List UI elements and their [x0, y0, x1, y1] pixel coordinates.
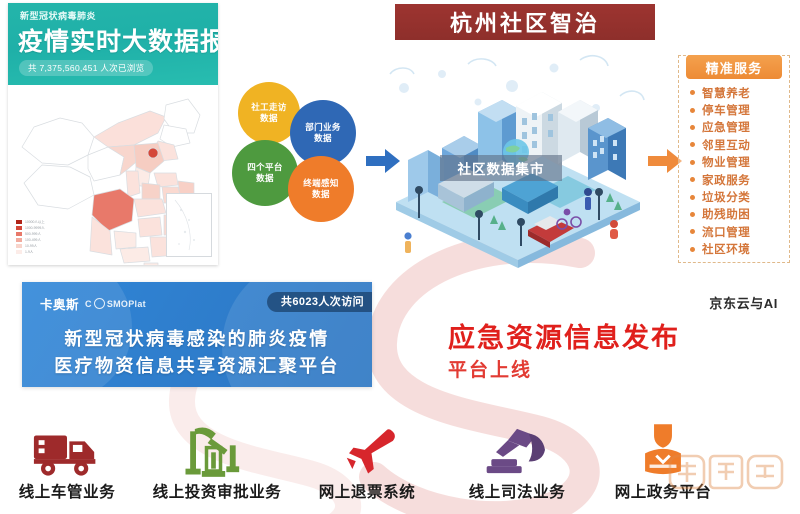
service-tile-caption: 线上投资审批业务 [142, 480, 292, 502]
legend-item: 1-9人 [16, 249, 56, 254]
service-tile-vehicle-management[interactable]: 线上车管业务 [0, 424, 142, 502]
cosmoplat-logo-cn: 卡奥斯 [40, 294, 79, 313]
service-label: 智慧养老 [702, 85, 750, 101]
service-item-community-environment[interactable]: 社区环境 [690, 241, 786, 258]
service-item-property-management[interactable]: 物业管理 [690, 154, 786, 171]
legend-label: 10000人以上 [25, 219, 45, 224]
service-tile-caption: 线上车管业务 [0, 480, 142, 502]
bullet-dot-icon [690, 108, 695, 113]
emergency-resource-announcement: 应急资源信息发布 平台上线 [448, 325, 768, 380]
service-label: 邻里互动 [702, 137, 750, 153]
epidemic-report-card[interactable]: 新型冠状病毒肺炎 疫情实时大数据报告 共 7,375,560,451 人次已浏览 [8, 3, 218, 265]
city-data-market-chip: 社区数据集市 [440, 155, 562, 181]
data-source-circles: 社工走访 数据 部门业务 数据 四个平台 数据 终端感知 数据 [232, 78, 372, 223]
oil-pump-icon-svg [183, 422, 251, 478]
cosmoplat-visit-badge: 共6023人次访问 [267, 292, 372, 312]
precise-services-header: 精准服务 [686, 55, 782, 79]
oil-pump-icon [142, 424, 292, 478]
bullet-dot-icon [690, 177, 695, 182]
circle-label-line2: 数据 [312, 189, 330, 200]
service-tile-judicial-services[interactable]: 线上司法业务 [442, 424, 592, 502]
service-item-parking-management[interactable]: 停车管理 [690, 101, 786, 118]
circle-label-line1: 四个平台 [247, 162, 283, 173]
cosmoplat-title-line1: 新型冠状病毒感染的肺炎疫情 [22, 325, 372, 351]
service-label: 社区环境 [702, 241, 750, 257]
legend-swatch [16, 250, 22, 254]
emergency-headline: 应急资源信息发布 [448, 325, 768, 352]
epidemic-visit-count: 共 7,375,560,451 人次已浏览 [19, 60, 153, 76]
legend-swatch [16, 238, 22, 242]
legend-label: 100-499人 [25, 237, 41, 242]
service-label: 垃圾分类 [702, 189, 750, 205]
circle-label-line2: 数据 [260, 113, 278, 124]
emergency-subline: 平台上线 [448, 361, 768, 380]
circle-label-line1: 部门业务 [305, 122, 341, 133]
cosmoplat-ring-icon [94, 298, 105, 309]
south-sea-islands-inset [166, 193, 212, 257]
service-item-disability-assistance[interactable]: 助残助困 [690, 206, 786, 223]
service-item-smart-elderly-care[interactable]: 智慧养老 [690, 84, 786, 101]
cosmoplat-logo: 卡奥斯 C SMOPlat [40, 294, 146, 313]
map-legend: 10000人以上 1000-9999人 500-999人 100-499人 10… [16, 219, 56, 255]
bullet-dot-icon [690, 195, 695, 200]
bullet-dot-icon [690, 160, 695, 165]
legend-label: 1000-9999人 [25, 225, 45, 230]
legend-swatch [16, 226, 22, 230]
cosmoplat-logo-en-left: C [85, 299, 92, 309]
legend-label: 10-99人 [25, 243, 37, 248]
service-label: 流口管理 [702, 224, 750, 240]
service-item-floating-population-management[interactable]: 流口管理 [690, 223, 786, 240]
legend-swatch [16, 244, 22, 248]
bullet-dot-icon [690, 125, 695, 130]
bullet-dot-icon [690, 90, 695, 95]
legend-label: 1-9人 [25, 249, 33, 254]
service-tile-caption: 网上退票系统 [292, 480, 442, 502]
service-tile-ticket-refund[interactable]: 网上退票系统 [292, 424, 442, 502]
service-label: 物业管理 [702, 154, 750, 170]
city-chip-label: 社区数据集市 [458, 158, 545, 178]
epidemic-title: 疫情实时大数据报告 [18, 22, 218, 58]
bullet-dot-icon [690, 229, 695, 234]
hangzhou-banner-title: 杭州社区智治 [450, 6, 600, 38]
gavel-icon-svg [482, 424, 552, 478]
service-item-housekeeping-service[interactable]: 家政服务 [690, 171, 786, 188]
precise-services-title: 精准服务 [706, 58, 763, 77]
circle-label-line1: 社工走访 [251, 102, 287, 113]
service-label: 助残助困 [702, 206, 750, 222]
truck-icon-svg [28, 426, 106, 478]
bullet-dot-icon [690, 212, 695, 217]
data-circle-terminal-sensing[interactable]: 终端感知 数据 [288, 156, 354, 222]
service-label: 家政服务 [702, 172, 750, 188]
legend-swatch [16, 232, 22, 236]
service-item-neighborhood-interaction[interactable]: 邻里互动 [690, 136, 786, 153]
circle-label-line2: 数据 [256, 173, 274, 184]
service-label: 停车管理 [702, 102, 750, 118]
epidemic-eyebrow: 新型冠状病毒肺炎 [20, 9, 96, 22]
precise-services-list: 智慧养老 停车管理 应急管理 邻里互动 物业管理 家政服务 垃圾分类 助残助困 [690, 84, 786, 258]
service-item-emergency-management[interactable]: 应急管理 [690, 119, 786, 136]
bullet-dot-icon [690, 247, 695, 252]
cosmoplat-logo-en-right: SMOPlat [107, 299, 146, 309]
legend-label: 500-999人 [25, 231, 41, 236]
slide-canvas: 新型冠状病毒肺炎 疫情实时大数据报告 共 7,375,560,451 人次已浏览 [0, 0, 800, 514]
epidemic-card-header: 新型冠状病毒肺炎 疫情实时大数据报告 共 7,375,560,451 人次已浏览 [8, 3, 218, 85]
service-tile-caption: 线上司法业务 [442, 480, 592, 502]
legend-item: 10000人以上 [16, 219, 56, 224]
truck-icon [0, 424, 142, 478]
hangzhou-banner: 杭州社区智治 [395, 4, 655, 40]
gavel-icon [442, 424, 592, 478]
cosmoplat-title-line2: 医疗物资信息共享资源汇聚平台 [22, 352, 372, 378]
inset-islands-svg [167, 194, 211, 256]
circle-label-line1: 终端感知 [303, 178, 339, 189]
bullet-dot-icon [690, 142, 695, 147]
zhidongxi-watermark-logo [668, 452, 786, 492]
service-item-garbage-sorting[interactable]: 垃圾分类 [690, 188, 786, 205]
airplane-icon-svg [332, 424, 402, 478]
legend-item: 100-499人 [16, 237, 56, 242]
jd-cloud-ai-label: 京东云与AI [709, 293, 778, 312]
airplane-icon [292, 424, 442, 478]
cosmoplat-platform-card[interactable]: 卡奥斯 C SMOPlat 共6023人次访问 新型冠状病毒感染的肺炎疫情 医疗… [22, 282, 372, 387]
legend-item: 10-99人 [16, 243, 56, 248]
legend-swatch [16, 220, 22, 224]
service-label: 应急管理 [702, 119, 750, 135]
legend-item: 500-999人 [16, 231, 56, 236]
arrow-right-orange-icon [648, 148, 682, 174]
china-map[interactable]: 10000人以上 1000-9999人 500-999人 100-499人 10… [8, 85, 218, 265]
circle-label-line2: 数据 [314, 133, 332, 144]
service-tile-investment-approval[interactable]: 线上投资审批业务 [142, 424, 292, 502]
legend-item: 1000-9999人 [16, 225, 56, 230]
